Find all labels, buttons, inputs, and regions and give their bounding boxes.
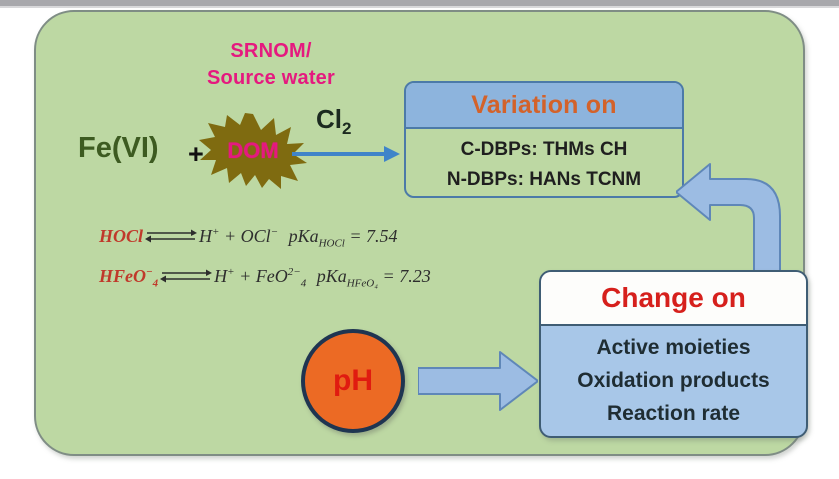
equation-hfeo4-acid: HFeO — [99, 266, 146, 286]
equation-hocl-plus: + — [224, 226, 236, 246]
equation-hfeo4-conjugate-subscript: 4 — [301, 278, 307, 290]
variation-on-box: Variation on C-DBPs: THMs CH N-DBPs: HAN… — [404, 81, 684, 198]
equation-hocl-h: H — [199, 226, 212, 246]
reagent-label: Fe(VI) — [78, 131, 159, 165]
chlorine-label: Cl2 — [316, 105, 351, 143]
variation-on-body: C-DBPs: THMs CH N-DBPs: HANs TCNM — [406, 129, 682, 195]
source-water-label: SRNOM/ Source water — [156, 38, 386, 92]
equilibrium-equations: HOClH+ + OCl− pKaHOCl = 7.54 HFeO−4H+ + … — [99, 226, 519, 306]
dom-starburst: DOM — [199, 113, 307, 189]
equation-hfeo4-h-charge: + — [227, 266, 234, 278]
equation-hfeo4-pka-label: pKa — [317, 266, 347, 286]
equation-hocl-pka-subscript: HOCl — [319, 238, 345, 250]
dom-label: DOM — [199, 139, 307, 163]
variation-line-n-dbps: N-DBPs: HANs TCNM — [406, 165, 682, 195]
ph-node: pH — [301, 329, 405, 433]
top-gray-strip-highlight — [0, 6, 839, 8]
change-line-oxidation-products: Oxidation products — [541, 364, 806, 397]
equation-hocl-pka-label: pKa — [289, 226, 319, 246]
variation-on-header: Variation on — [406, 83, 682, 129]
equation-hfeo4: HFeO−4H+ + FeO2−4 pKaHFeO₄ = 7.23 — [99, 266, 519, 306]
block-arrow-shape — [418, 352, 538, 410]
block-right-arrow-icon — [418, 350, 538, 412]
chlorine-symbol: Cl — [316, 104, 342, 134]
chlorination-arrow — [292, 144, 400, 164]
equation-hfeo4-conjugate-charge: 2− — [288, 266, 301, 278]
equation-hfeo4-pka-value: 7.23 — [399, 266, 431, 286]
equation-hocl: HOClH+ + OCl− pKaHOCl = 7.54 — [99, 226, 519, 266]
change-line-active-moieties: Active moieties — [541, 331, 806, 364]
equation-hfeo4-acid-charge: − — [146, 266, 153, 278]
equilibrium-arrows-icon-2 — [160, 267, 212, 285]
equation-hocl-conjugate: OCl — [241, 226, 271, 246]
chlorine-subscript: 2 — [342, 119, 351, 138]
equation-hocl-equals: = — [349, 226, 361, 246]
equation-hfeo4-plus: + — [239, 266, 251, 286]
figure-canvas: SRNOM/ Source water Fe(VI) + DOM Cl2 Var… — [0, 0, 839, 479]
source-label-line-1: SRNOM/ — [156, 38, 386, 65]
equation-hfeo4-h: H — [214, 266, 227, 286]
change-on-box: Change on Active moieties Oxidation prod… — [539, 270, 808, 438]
feedback-arrow-shape — [676, 164, 780, 282]
change-line-reaction-rate: Reaction rate — [541, 397, 806, 430]
change-on-body: Active moieties Oxidation products React… — [541, 326, 806, 430]
equation-hfeo4-equals: = — [383, 266, 395, 286]
feedback-arrow-icon — [676, 160, 801, 282]
equation-hocl-conjugate-charge: − — [271, 226, 278, 238]
equilibrium-arrows-icon — [145, 227, 197, 245]
equation-hfeo4-conjugate: FeO — [256, 266, 288, 286]
equation-hocl-h-charge: + — [212, 226, 219, 238]
change-on-header: Change on — [541, 272, 806, 326]
variation-line-c-dbps: C-DBPs: THMs CH — [406, 135, 682, 165]
equation-hocl-pka-value: 7.54 — [366, 226, 398, 246]
equation-hfeo4-pka-subscript: HFeO₄ — [347, 278, 378, 290]
equation-hfeo4-acid-subscript: 4 — [153, 278, 159, 290]
source-label-line-2: Source water — [156, 65, 386, 92]
main-green-panel: SRNOM/ Source water Fe(VI) + DOM Cl2 Var… — [34, 10, 805, 456]
equation-hocl-acid: HOCl — [99, 226, 143, 246]
